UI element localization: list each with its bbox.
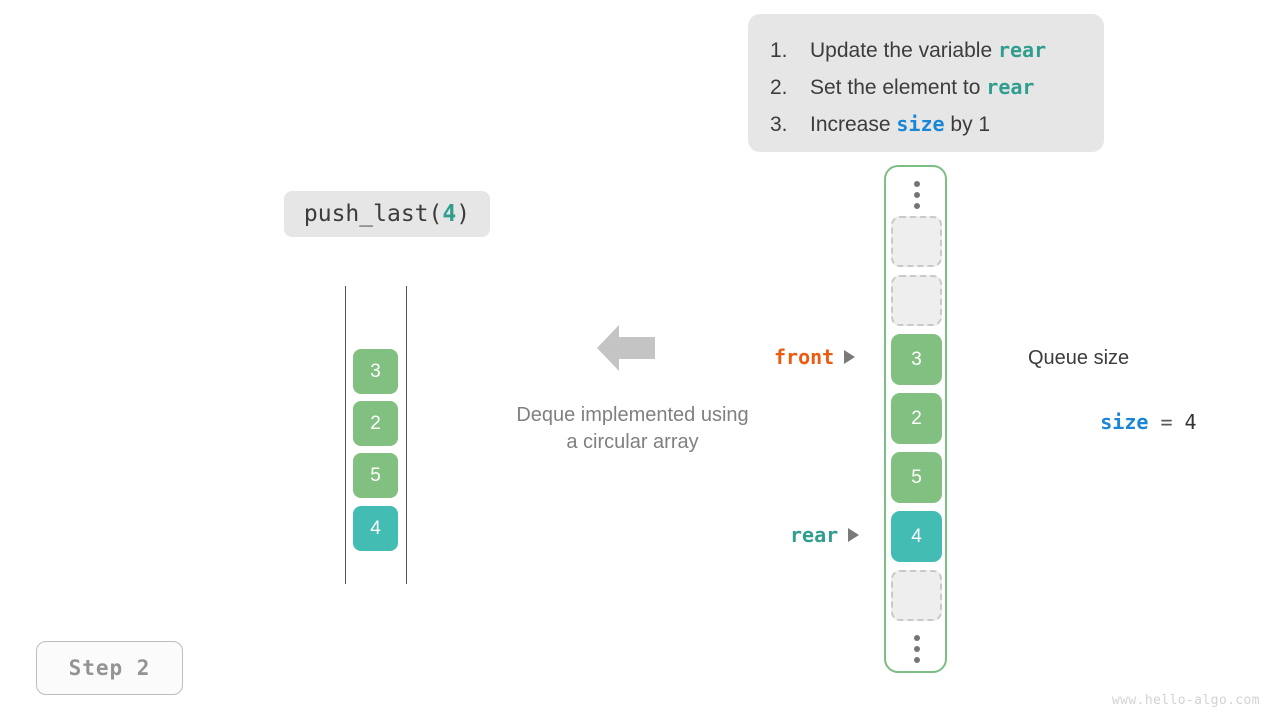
deque-cell: 3 [353,349,398,394]
array-slot-empty [891,275,942,326]
front-pointer-text: front [774,345,834,369]
instruction-number: 2. [770,69,810,106]
pointer-arrowhead-icon [844,350,855,364]
caption-line-1: Deque implemented using [455,402,810,429]
queue-size-panel: Queue size size = 4 [1028,344,1228,409]
deque-cell-new: 4 [353,506,398,551]
diagram-canvas: 1. Update the variable rear 2. Set the e… [0,0,1280,720]
step-badge: Step 2 [36,641,183,695]
deque-rail-left [345,286,346,584]
deque-rail-right [406,286,407,584]
logical-deque: 3 2 5 4 [345,286,409,584]
instruction-code-size: size [896,106,944,143]
watermark: www.hello-algo.com [1112,693,1260,708]
instruction-code-rear: rear [998,32,1046,69]
instruction-item-1: 1. Update the variable rear [770,32,1084,69]
rear-pointer-text: rear [790,523,838,547]
front-pointer-label: front [774,345,855,369]
array-slot-new: 4 [891,511,942,562]
operation-name: push_last( [304,201,442,227]
array-slot-filled: 5 [891,452,942,503]
instruction-item-2: 2. Set the element to rear [770,69,1084,106]
array-slot-empty [891,570,942,621]
instruction-text: Set the element to [810,69,986,106]
size-value: 4 [1185,410,1197,434]
caption-line-2: a circular array [455,429,810,456]
instruction-text: Increase [810,106,896,143]
instruction-number: 3. [770,106,810,143]
array-slot-empty [891,216,942,267]
diagram-caption: Deque implemented using a circular array [455,402,810,456]
operation-close-paren: ) [456,201,470,227]
ellipsis-icon-top [891,175,942,215]
size-equals-sign: = [1148,410,1184,434]
ellipsis-icon-bottom [891,629,942,669]
deque-cell: 5 [353,453,398,498]
queue-size-title: Queue size [1028,344,1228,372]
operation-label: push_last(4) [284,191,490,237]
size-variable-name: size [1100,410,1148,434]
operation-argument: 4 [442,201,456,227]
instruction-number: 1. [770,32,810,69]
instruction-text: Update the variable [810,32,998,69]
instruction-code-rear: rear [986,69,1034,106]
left-arrow-icon [597,324,655,372]
array-slot-filled: 3 [891,334,942,385]
deque-cell: 2 [353,401,398,446]
pointer-arrowhead-icon [848,528,859,542]
instruction-text-suffix: by 1 [945,106,991,143]
queue-size-expression: size = 4 [1028,383,1228,409]
instruction-panel: 1. Update the variable rear 2. Set the e… [748,14,1104,152]
circular-array-container: 3 2 5 4 [884,165,947,673]
rear-pointer-label: rear [790,523,859,547]
instruction-item-3: 3. Increase size by 1 [770,106,1084,143]
array-slot-filled: 2 [891,393,942,444]
